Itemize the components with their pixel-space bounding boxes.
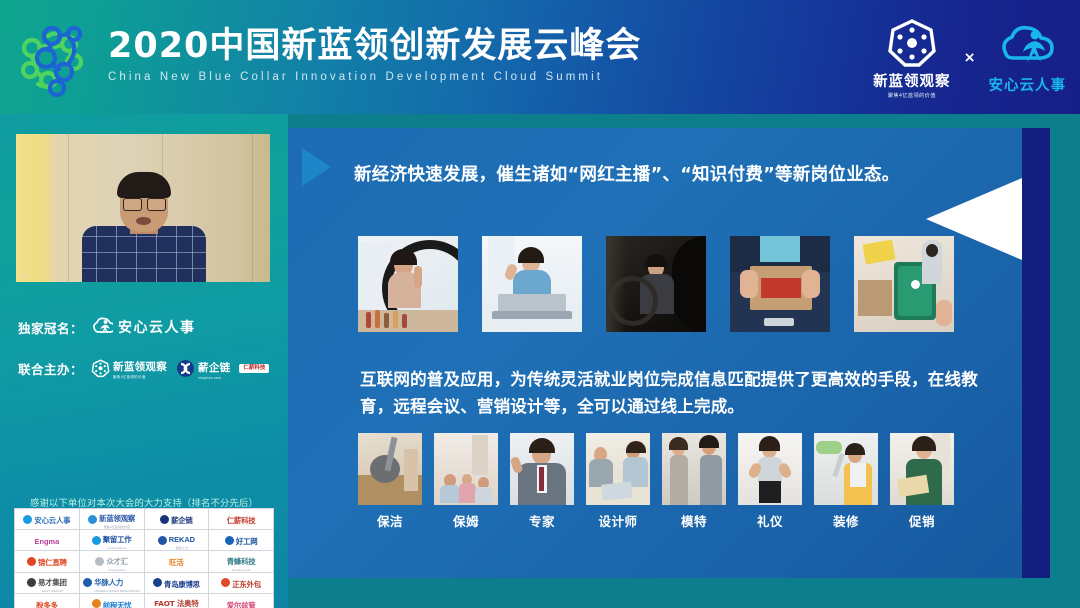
separator-x: × xyxy=(965,48,975,68)
sponsor-logo-cell: 爱尔兹管 xyxy=(209,594,273,608)
sponsor-logo-name: 青岛康博思 xyxy=(164,580,200,589)
job-category-label: 保洁 xyxy=(358,511,422,530)
event-title-block: 2020中国新蓝领创新发展云峰会 China New Blue Collar I… xyxy=(108,24,641,83)
partner-left-name: 新蓝领观察 xyxy=(873,70,951,91)
job-category-label: 专家 xyxy=(510,511,574,530)
sponsor-logo-mark xyxy=(158,536,167,545)
sidebar-panel: 11: 独家冠名： 安心云人事 联合主办： xyxy=(0,114,288,608)
job-category-card: 促销 xyxy=(890,433,954,530)
eyeglasses-right xyxy=(147,198,166,211)
sponsor-logo-name: 脫多多 xyxy=(36,601,58,608)
online-remote-worker-laptop xyxy=(482,236,582,332)
sponsor-logo-mark xyxy=(221,578,230,587)
sponsor-logo-name: Engma xyxy=(35,537,60,546)
ride-hailing-driver xyxy=(606,236,706,332)
sponsor-logo-cell: 仁薪科技 xyxy=(209,509,273,529)
sponsor-logo-name: 众才汇 xyxy=(106,557,128,566)
job-category-label: 促销 xyxy=(890,511,954,530)
sponsor-logo-cell: REKAD锐凯人力 xyxy=(145,530,209,550)
sponsor-logo-subtitle: 聚焦4亿蓝领的价值 xyxy=(99,526,135,529)
sponsor-logo-cell: 华脉人力HUAMAI HUMAN RESOURCES xyxy=(80,573,144,593)
speaker-hair xyxy=(117,172,171,198)
sponsor-logo-mark xyxy=(92,536,101,545)
co-organizer-1-sub: 聚焦4亿蓝领的价值 xyxy=(113,375,167,380)
designer-workspace xyxy=(586,433,650,505)
co-organizer-2-name: 薪企链 xyxy=(198,362,230,374)
live-streaming-beauty-seller xyxy=(358,236,458,332)
sponsor-logo-subtitle: zhongcaihui xyxy=(106,569,128,572)
sponsor-logo-name: 锦仁直聘 xyxy=(38,558,67,567)
sponsor-logo-name: 聚留工作 xyxy=(103,535,132,544)
sponsor-logo-mark xyxy=(23,515,32,524)
sponsor-logo-mark xyxy=(153,578,162,587)
speaker-video-feed[interactable]: 11: xyxy=(16,134,270,282)
sponsor-logo-cell: 前程无忧 xyxy=(80,594,144,608)
partner-right-name: 安心云人事 xyxy=(989,74,1067,95)
co-organizer-logo-3: 仁薪科技 xyxy=(239,364,269,374)
slide-paragraph: 互联网的普及应用，为传统灵活就业岗位完成信息匹配提供了更高效的手段，在线教育，远… xyxy=(360,366,980,420)
sponsor-logo-cell: 锦仁直聘 xyxy=(15,551,79,571)
presentation-slide: 新经济快速发展，催生诸如“网红主播”、“知识付费”等新岗位业态。 xyxy=(288,128,1050,578)
job-category-card: 礼仪 xyxy=(738,433,802,530)
fashion-models xyxy=(662,433,726,505)
thanks-note: 感谢以下单位对本次大会的大力支持（排名不分先后） xyxy=(0,495,288,509)
sponsor-logo-name: 旺活 xyxy=(169,558,183,567)
sponsor-logo-cell: 青岛康博思 xyxy=(145,573,209,593)
sponsor-logo-subtitle: EASY GROUP xyxy=(38,590,67,593)
co-organizer-1-name: 新蓝领观察 xyxy=(113,361,167,373)
video-timestamp: 11: xyxy=(20,274,28,280)
sponsor-logo-cell: 安心云人事 xyxy=(15,509,79,529)
sponsor-logo-mark xyxy=(27,578,36,587)
sponsor-logo-subtitle: 锐凯人力 xyxy=(169,547,195,550)
sponsor-logo-mark xyxy=(160,515,169,524)
painter-renovation xyxy=(814,433,878,505)
sponsor-logo-cell: Engma xyxy=(15,530,79,550)
food-delivery-takeaway xyxy=(730,236,830,332)
slide-right-navy-edge xyxy=(1022,128,1050,578)
sponsor-logo-cell: 青蜂科技qingfeng-soft xyxy=(209,551,273,571)
event-title-cn: 2020中国新蓝领创新发展云峰会 xyxy=(108,24,641,68)
sponsor-logo-name: 易才集团 xyxy=(38,578,67,587)
promoter-sales xyxy=(890,433,954,505)
presentation-screenshot: 2020中国新蓝领创新发展云峰会 China New Blue Collar I… xyxy=(0,0,1080,608)
sponsor-logo-name: 前程无忧 xyxy=(103,601,132,608)
event-header-banner: 2020中国新蓝领创新发展云峰会 China New Blue Collar I… xyxy=(0,0,1080,114)
job-category-card: 保姆 xyxy=(434,433,498,530)
sponsor-logo-mark xyxy=(92,599,101,608)
sponsor-logo-cell: FAOT 法奥特faot xyxy=(145,594,209,608)
sponsor-logo-cell: 好工网 xyxy=(209,530,273,550)
sponsor-logo-mark xyxy=(95,557,104,566)
sponsor-logo-name: FAOT 法奥特 xyxy=(154,599,198,608)
co-organizer-2-sub: xinqilian.com xyxy=(198,376,230,380)
sponsor-logo-mark xyxy=(225,536,234,545)
partner-left-tagline: 聚焦4亿蓝领的价值 xyxy=(888,92,936,99)
sponsor-logo-cell: 新蓝领观察聚焦4亿蓝领的价值 xyxy=(80,509,144,529)
job-category-label: 设计师 xyxy=(586,511,650,530)
sponsor-logo-name: 仁薪科技 xyxy=(227,516,256,525)
sponsor-logo-name: 青蜂科技 xyxy=(227,557,256,566)
job-category-card: 模特 xyxy=(662,433,726,530)
title-sponsor-brand: 安心云人事 xyxy=(118,317,196,337)
title-sponsor-logo: 安心云人事 xyxy=(91,316,196,338)
sponsor-logo-cell: 旺活 xyxy=(145,551,209,571)
co-organizer-logo-1: 新蓝领观察 聚焦4亿蓝领的价值 xyxy=(91,357,167,380)
molecule-network-logo xyxy=(12,14,94,100)
person-cloud-icon xyxy=(996,22,1058,72)
title-sponsor-row: 独家冠名： 安心云人事 xyxy=(18,316,196,338)
co-organizer-3-name: 仁薪科技 xyxy=(243,366,265,372)
sponsor-logo-mark xyxy=(88,515,97,524)
sponsor-logo-name: REKAD xyxy=(169,535,195,544)
sponsor-logo-cell: 正东外包 xyxy=(209,573,273,593)
photo-strip-top xyxy=(358,236,954,332)
header-partner-logos: 新蓝领观察 聚焦4亿蓝领的价值 × 安心云人事 xyxy=(873,12,1066,104)
partner-logo-left: 新蓝领观察 聚焦4亿蓝领的价值 xyxy=(873,18,951,99)
partner-logo-right: 安心云人事 xyxy=(989,22,1067,95)
sponsor-logo-cell: 众才汇zhongcaihui xyxy=(80,551,144,571)
sponsor-logo-name: 爱尔兹管 xyxy=(227,601,256,608)
speaker-torso xyxy=(82,226,206,282)
job-category-strip: 保洁 保姆 专家 设计师 模特 礼仪 xyxy=(358,433,954,530)
person-cloud-icon xyxy=(91,316,113,338)
speaker-mouth xyxy=(136,217,151,225)
sponsor-logo-name: 薪企链 xyxy=(171,516,193,525)
sponsor-logo-subtitle: HUAMAI HUMAN RESOURCES xyxy=(94,590,140,593)
eyeglasses-left xyxy=(123,198,142,211)
sponsor-logo-name: 好工网 xyxy=(236,537,258,546)
sponsor-logo-cell: 脫多多 xyxy=(15,594,79,608)
job-category-label: 模特 xyxy=(662,511,726,530)
sponsor-logo-cell: 聚留工作jiuliugongzuo xyxy=(80,530,144,550)
expert-speaker xyxy=(510,433,574,505)
co-organizer-logo-2: 薪企链 xinqilian.com xyxy=(176,358,230,380)
event-title-en: China New Blue Collar Innovation Develop… xyxy=(108,71,641,83)
job-category-card: 装修 xyxy=(814,433,878,530)
job-category-card: 专家 xyxy=(510,433,574,530)
sponsor-logo-mark xyxy=(27,557,36,566)
sponsor-logo-grid: 安心云人事新蓝领观察聚焦4亿蓝领的价值薪企链仁薪科技Engma聚留工作jiuli… xyxy=(14,508,274,608)
sponsor-logo-cell: 易才集团EASY GROUP xyxy=(15,573,79,593)
cleaning-vacuum xyxy=(358,433,422,505)
chain-circle-icon xyxy=(176,359,195,378)
etiquette-hostess xyxy=(738,433,802,505)
sponsor-logo-name: 新蓝领观察 xyxy=(99,514,135,523)
sponsor-logo-subtitle: jiuliugongzuo xyxy=(103,547,132,550)
job-category-card: 设计师 xyxy=(586,433,650,530)
mobile-ordering-app xyxy=(854,236,954,332)
play-triangle-icon xyxy=(302,148,331,186)
sponsor-logo-name: 安心云人事 xyxy=(34,516,70,525)
job-category-label: 保姆 xyxy=(434,511,498,530)
title-sponsor-label: 独家冠名： xyxy=(18,318,83,337)
co-organizer-row: 联合主办： 新蓝领观察 聚焦4亿蓝领的价值 xyxy=(18,357,269,380)
sponsor-logo-name: 正东外包 xyxy=(232,580,261,589)
hexagon-star-icon xyxy=(886,18,938,68)
job-category-label: 装修 xyxy=(814,511,878,530)
job-category-label: 礼仪 xyxy=(738,511,802,530)
slide-headline: 新经济快速发展，催生诸如“网红主播”、“知识付费”等新岗位业态。 xyxy=(354,162,994,188)
sponsor-logo-mark xyxy=(83,578,92,587)
sponsor-logo-cell: 薪企链 xyxy=(145,509,209,529)
sponsor-logo-subtitle: qingfeng-soft xyxy=(227,569,256,572)
hexagon-star-icon xyxy=(91,359,110,378)
co-organizer-label: 联合主办： xyxy=(18,359,83,378)
sponsor-logo-name: 华脉人力 xyxy=(94,578,123,587)
nanny-childcare xyxy=(434,433,498,505)
job-category-card: 保洁 xyxy=(358,433,422,530)
